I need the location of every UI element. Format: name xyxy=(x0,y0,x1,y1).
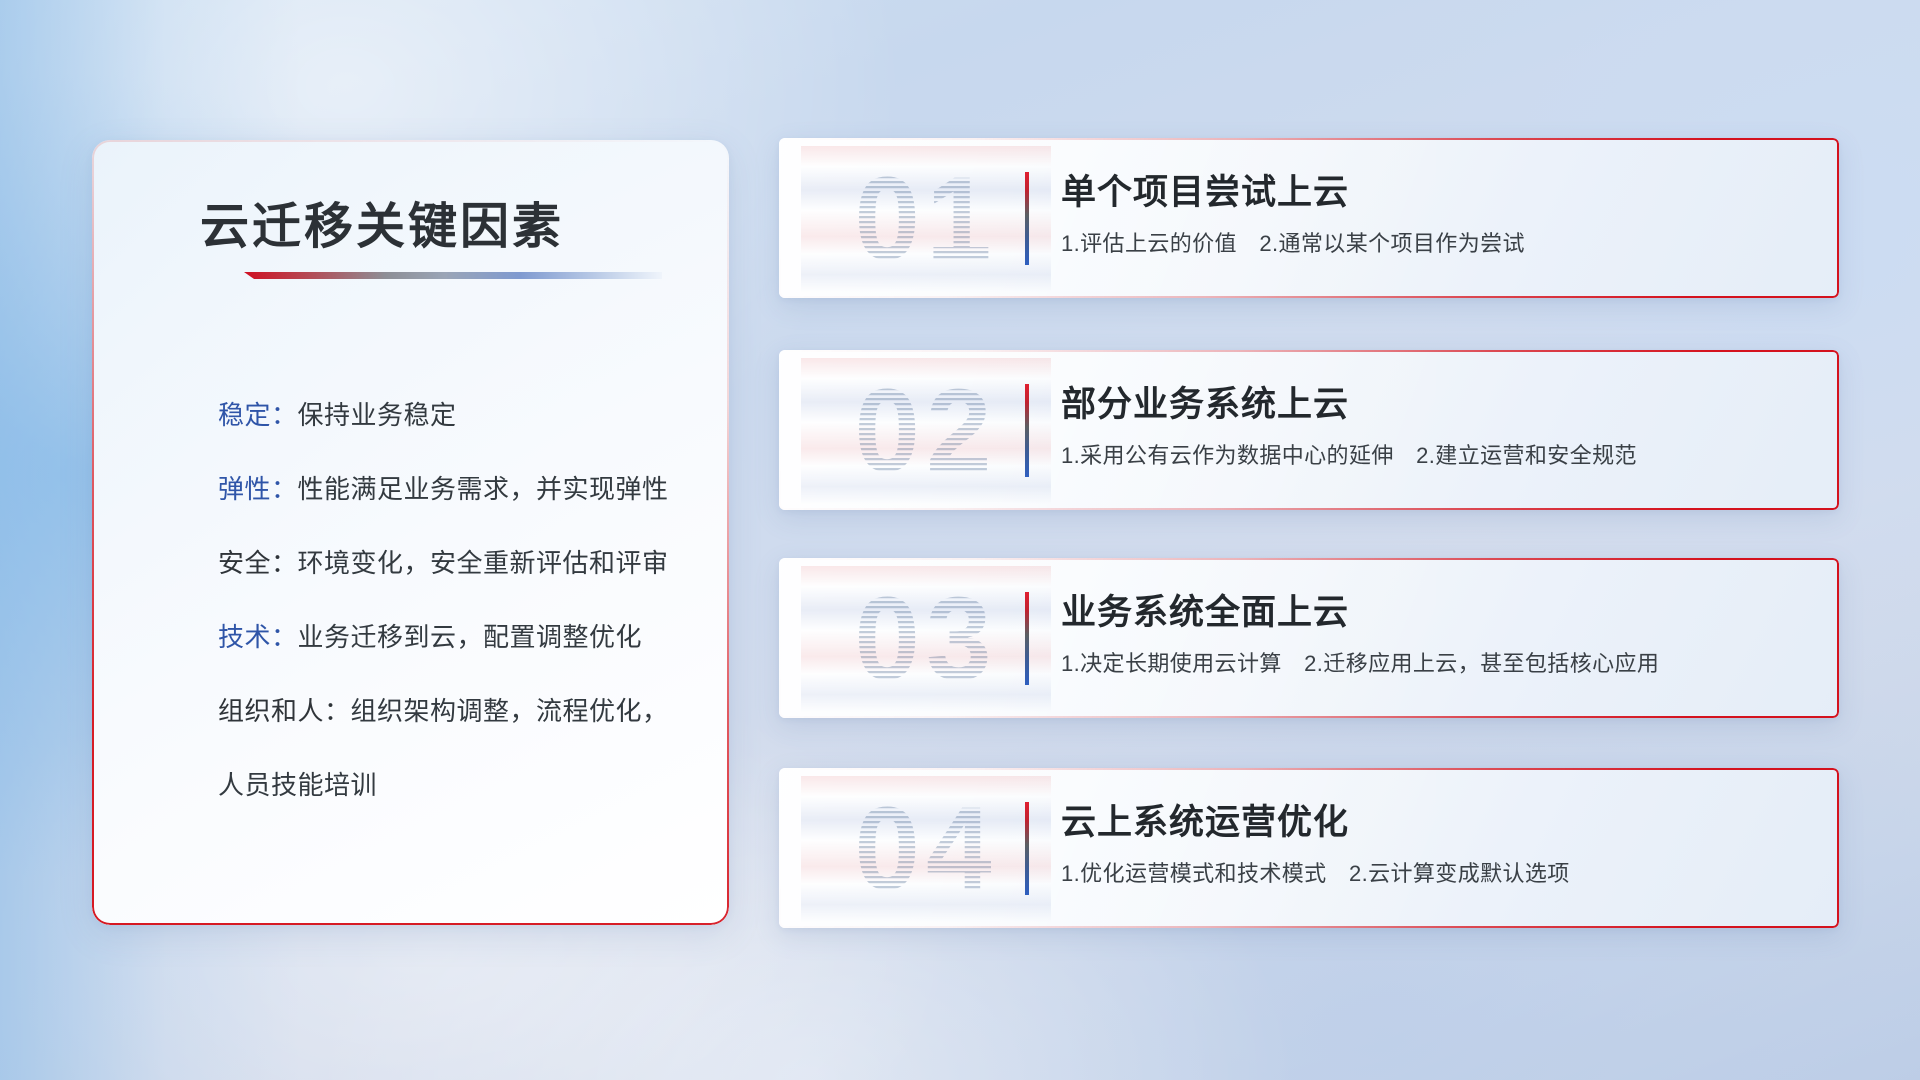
list-item-value: 环境变化，安全重新评估和评审 xyxy=(298,548,669,578)
list-item-value: 业务迁移到云，配置调整优化 xyxy=(298,622,643,652)
stage-title: 业务系统全面上云 xyxy=(1061,584,1349,635)
stage-index-number: 04 xyxy=(801,776,1051,922)
stage-index-number: 03 xyxy=(801,566,1051,712)
slide-canvas: 云迁移关键因素 稳定：保持业务稳定 弹性：性能满足业务需求，并实现弹性 安全：环… xyxy=(0,0,1920,1080)
list-item-value: 人员技能培训 xyxy=(218,770,377,800)
stage-card[interactable]: 03 业务系统全面上云 1.决定长期使用云计算 2.迁移应用上云，甚至包括核心应… xyxy=(779,558,1839,718)
title-divider xyxy=(244,272,662,279)
list-item-value: 性能满足业务需求，并实现弹性 xyxy=(298,474,669,504)
list-item: 弹性：性能满足业务需求，并实现弹性 xyxy=(218,452,695,526)
stage-card[interactable]: 04 云上系统运营优化 1.优化运营模式和技术模式 2.云计算变成默认选项 xyxy=(779,768,1839,928)
stage-title: 云上系统运营优化 xyxy=(1061,794,1349,845)
stage-accent-bar xyxy=(1025,802,1029,895)
list-item: 安全：环境变化，安全重新评估和评审 xyxy=(218,526,695,600)
list-item: 组织和人：组织架构调整，流程优化， xyxy=(218,674,695,748)
stage-description: 1.优化运营模式和技术模式 2.云计算变成默认选项 xyxy=(1061,856,1570,888)
stage-title: 部分业务系统上云 xyxy=(1061,376,1349,427)
stage-index-number: 02 xyxy=(801,358,1051,504)
stage-title: 单个项目尝试上云 xyxy=(1061,164,1349,215)
list-item-key: 安全： xyxy=(218,548,298,578)
list-item-value: 组织架构调整，流程优化， xyxy=(351,696,669,726)
stage-description: 1.采用公有云作为数据中心的延伸 2.建立运营和安全规范 xyxy=(1061,438,1637,470)
list-item-key: 技术： xyxy=(218,622,298,652)
stage-card[interactable]: 01 单个项目尝试上云 1.评估上云的价值 2.通常以某个项目作为尝试 xyxy=(779,138,1839,298)
stage-accent-bar xyxy=(1025,592,1029,685)
stage-description: 1.决定长期使用云计算 2.迁移应用上云，甚至包括核心应用 xyxy=(1061,646,1659,678)
list-item-key: 弹性： xyxy=(218,474,298,504)
list-item: 技术：业务迁移到云，配置调整优化 xyxy=(218,600,695,674)
list-item-value: 保持业务稳定 xyxy=(298,400,457,430)
list-item: 人员技能培训 xyxy=(218,748,695,822)
stage-index-number: 01 xyxy=(801,146,1051,292)
stage-card[interactable]: 02 部分业务系统上云 1.采用公有云作为数据中心的延伸 2.建立运营和安全规范 xyxy=(779,350,1839,510)
list-item-key: 稳定： xyxy=(218,400,298,430)
list-item: 稳定：保持业务稳定 xyxy=(218,378,695,452)
stage-accent-bar xyxy=(1025,384,1029,477)
key-factors-list: 稳定：保持业务稳定 弹性：性能满足业务需求，并实现弹性 安全：环境变化，安全重新… xyxy=(218,378,695,822)
stage-description: 1.评估上云的价值 2.通常以某个项目作为尝试 xyxy=(1061,226,1525,258)
list-item-key: 组织和人： xyxy=(218,696,351,726)
key-factors-panel: 云迁移关键因素 稳定：保持业务稳定 弹性：性能满足业务需求，并实现弹性 安全：环… xyxy=(92,140,729,925)
stage-accent-bar xyxy=(1025,172,1029,265)
page-title: 云迁移关键因素 xyxy=(200,187,564,258)
